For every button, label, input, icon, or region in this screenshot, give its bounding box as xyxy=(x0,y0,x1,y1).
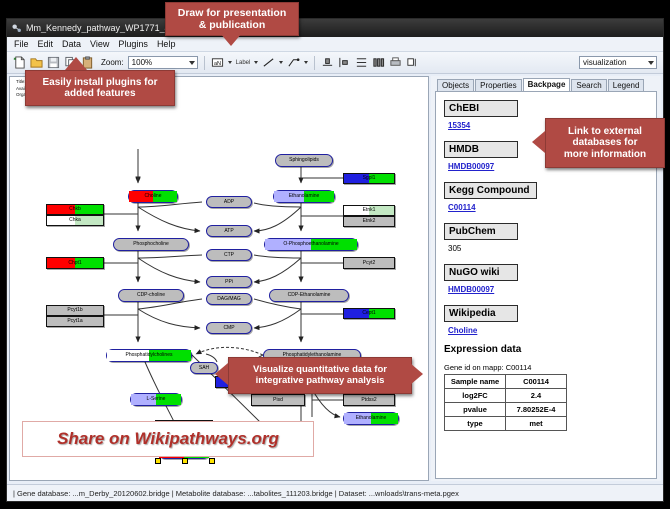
node-label: SAH xyxy=(199,366,209,371)
toolbar-separator xyxy=(314,56,315,70)
node-label: PPi xyxy=(225,280,233,285)
node-label: DAG/MAG xyxy=(217,297,241,302)
metabolite-node-sah[interactable]: SAH xyxy=(190,362,218,374)
visualization-value: visualization xyxy=(583,58,627,67)
node-label: Ethanolamine xyxy=(356,416,387,421)
new-file-icon[interactable] xyxy=(13,56,26,69)
callout-plugins-arrow xyxy=(65,57,87,70)
db-header-wikipedia: Wikipedia xyxy=(444,305,518,322)
interaction-icon[interactable] xyxy=(287,56,300,69)
gene-node-cept1[interactable]: Cept1 xyxy=(343,308,395,319)
node-label: Phosphatidylcholines xyxy=(126,353,173,358)
side-panel-tabs: Objects Properties Backpage Search Legen… xyxy=(431,76,661,91)
open-folder-icon[interactable] xyxy=(30,56,43,69)
zoom-label: Zoom: xyxy=(101,58,124,67)
gene-node-sgpl1[interactable]: Sgpl1 xyxy=(343,173,395,184)
menu-item-plugins[interactable]: Plugins xyxy=(118,39,148,49)
save-icon[interactable] xyxy=(47,56,60,69)
metabolite-node-adp[interactable]: ADP xyxy=(206,196,252,208)
db-header-chebi: ChEBI xyxy=(444,100,518,117)
callout-links: Link to external databases for more info… xyxy=(545,118,665,168)
node-label: Cept1 xyxy=(362,311,375,316)
callout-plugins-line1: Easily install plugins for xyxy=(42,77,157,89)
table-row: type met xyxy=(445,417,567,431)
callout-links-line3: more information xyxy=(564,149,646,161)
gene-id-line: Gene id on mapp: C00114 xyxy=(444,363,648,372)
node-label: CDP-Ethanolamine xyxy=(288,293,331,298)
expr-value: 2.4 xyxy=(506,389,567,403)
node-label: Pisd xyxy=(273,398,283,403)
table-row: Sample name C00114 xyxy=(445,375,567,389)
node-label: Etnk1 xyxy=(363,208,376,213)
share-banner: Share on Wikipathways.org xyxy=(22,421,314,457)
gene-node-etnk2[interactable]: Etnk2 xyxy=(343,216,395,227)
callout-draw: Draw for presentation & publication xyxy=(165,2,299,36)
align-icon[interactable] xyxy=(321,56,334,69)
statusbar-text: | Gene database: ...m_Derby_20120602.bri… xyxy=(13,489,459,498)
gene-node-pcyt2[interactable]: Pcyt2 xyxy=(343,257,395,269)
node-label: CDP-choline xyxy=(137,293,165,298)
stack-icon[interactable] xyxy=(355,56,368,69)
node-label: Ptdss2 xyxy=(361,398,376,403)
selection-handle[interactable] xyxy=(182,458,188,464)
gene-node-pcyt1b[interactable]: Pcyt1b xyxy=(46,305,104,316)
node-label: L-Serine xyxy=(147,397,166,402)
expression-table: Sample name C00114 log2FC 2.4 pvalue 7.8… xyxy=(444,374,567,431)
metabolite-node-atp[interactable]: ATP xyxy=(206,225,252,237)
callout-draw-line1: Draw for presentation xyxy=(178,7,287,19)
metabolite-node-cdp-choline[interactable]: CDP-choline xyxy=(118,289,184,302)
table-row: log2FC 2.4 xyxy=(445,389,567,403)
node-label: O-Phosphoethanolamine xyxy=(283,242,338,247)
node-label: ATP xyxy=(224,229,233,234)
db-link-wikipedia[interactable]: Choline xyxy=(448,326,648,335)
chevron-down-icon xyxy=(648,61,654,65)
metabolite-node-phosphocholine[interactable]: Phosphocholine xyxy=(113,238,189,251)
node-label: Phosphocholine xyxy=(133,242,169,247)
menu-item-view[interactable]: View xyxy=(90,39,109,49)
metabolite-node-dagmag[interactable]: DAG/MAG xyxy=(206,293,252,305)
expr-key: Sample name xyxy=(445,375,506,389)
statusbar: | Gene database: ...m_Derby_20120602.bri… xyxy=(7,484,663,501)
metabolite-node-phosphatidylcholines[interactable]: Phosphatidylcholines xyxy=(106,349,192,362)
gene-node-etnk1[interactable]: Etnk1 xyxy=(343,205,395,216)
window-titlebar: Mm_Kennedy_pathway_WP1771_45176.gpml xyxy=(7,19,663,37)
distribute-icon[interactable] xyxy=(338,56,351,69)
menu-item-help[interactable]: Help xyxy=(157,39,176,49)
expr-key: pvalue xyxy=(445,403,506,417)
toolbar-separator xyxy=(204,56,205,70)
pathvisio-icon xyxy=(11,23,22,34)
callout-visualize-arrow-right xyxy=(410,363,423,385)
tab-properties[interactable]: Properties xyxy=(475,79,521,91)
callout-visualize: Visualize quantitative data for integrat… xyxy=(228,357,412,394)
print-icon[interactable] xyxy=(389,56,402,69)
node-label: Pcyt2 xyxy=(363,261,376,266)
datanode-icon[interactable]: aN xyxy=(211,56,224,69)
selection-handle[interactable] xyxy=(155,458,161,464)
node-label: Sgpl1 xyxy=(363,176,376,181)
db-header-pubchem: PubChem xyxy=(444,223,518,240)
metabolite-node-o-phosphoethanolamine[interactable]: O-Phosphoethanolamine xyxy=(264,238,358,251)
screen-root: Mm_Kennedy_pathway_WP1771_45176.gpml Fil… xyxy=(0,0,670,509)
size-icon[interactable] xyxy=(372,56,385,69)
metabolite-node-ethanolamine-top[interactable]: Ethanolamine xyxy=(273,190,335,203)
node-label: Sphingolipids xyxy=(289,158,319,163)
node-label: Chkb xyxy=(69,207,81,212)
callout-visualize-arrow-left xyxy=(215,363,228,385)
node-label: Chka xyxy=(69,218,81,223)
expr-value: met xyxy=(506,417,567,431)
callout-visualize-line1: Visualize quantitative data for xyxy=(253,365,387,376)
line-icon[interactable] xyxy=(262,56,275,69)
expression-data-title: Expression data xyxy=(444,344,648,355)
gene-node-chka[interactable]: Chka xyxy=(46,215,104,226)
callout-plugins-line2: added features xyxy=(42,88,157,100)
menu-item-file[interactable]: File xyxy=(14,39,29,49)
callout-plugins: Easily install plugins for added feature… xyxy=(25,70,175,106)
node-label: ADP xyxy=(224,200,234,205)
chevron-down-icon[interactable] xyxy=(304,61,308,64)
node-label: Pcyt1a xyxy=(67,319,82,324)
metabolite-node-ethanolamine-right[interactable]: Ethanolamine xyxy=(343,412,399,425)
node-label: Chpt1 xyxy=(68,261,81,266)
gene-node-ptdss2[interactable]: Ptdss2 xyxy=(343,394,395,406)
db-link-kegg[interactable]: C00114 xyxy=(448,203,648,212)
table-row: pvalue 7.80252E-4 xyxy=(445,403,567,417)
label-button[interactable]: Label xyxy=(236,60,251,66)
metabolite-node-cdp-ethanolamine[interactable]: CDP-Ethanolamine xyxy=(269,289,349,302)
chevron-down-icon xyxy=(189,61,195,65)
menu-item-data[interactable]: Data xyxy=(62,39,81,49)
node-label: Etnk2 xyxy=(363,219,376,224)
metabolite-node-l-serine-left[interactable]: L-Serine xyxy=(130,393,182,406)
callout-links-arrow xyxy=(532,131,545,153)
menu-item-edit[interactable]: Edit xyxy=(38,39,54,49)
zoom-value: 100% xyxy=(132,58,152,67)
callout-draw-arrow xyxy=(220,33,242,46)
db-link-nugo[interactable]: HMDB00097 xyxy=(448,285,648,294)
node-label: CMP xyxy=(223,326,234,331)
tab-legend[interactable]: Legend xyxy=(608,79,645,91)
gene-node-pcyt1a[interactable]: Pcyt1a xyxy=(46,316,104,327)
metabolite-node-choline-top[interactable]: Choline xyxy=(128,190,178,203)
metabolite-node-ctp[interactable]: CTP xyxy=(206,249,252,261)
expr-key: type xyxy=(445,417,506,431)
node-label: Pcyt1b xyxy=(67,308,82,313)
db-header-kegg: Kegg Compound xyxy=(444,182,537,199)
callout-draw-line2: & publication xyxy=(178,19,287,31)
expr-key: log2FC xyxy=(445,389,506,403)
expr-value: C00114 xyxy=(506,375,567,389)
callout-links-line2: databases for xyxy=(564,137,646,149)
node-label: CTP xyxy=(224,253,234,258)
chevron-down-icon[interactable] xyxy=(254,61,258,64)
node-label: Ethanolamine xyxy=(289,194,320,199)
callout-visualize-line2: integrative pathway analysis xyxy=(253,376,387,387)
share-banner-text: Share on Wikipathways.org xyxy=(57,429,279,449)
metabolite-node-ppi[interactable]: PPi xyxy=(206,276,252,288)
db-value-pubchem: 305 xyxy=(448,244,648,253)
zoom-combo[interactable]: 100% xyxy=(128,56,198,69)
node-label: Choline xyxy=(145,194,162,199)
menubar: File Edit Data View Plugins Help xyxy=(7,37,663,52)
tab-search[interactable]: Search xyxy=(571,79,606,91)
metabolite-node-cmp[interactable]: CMP xyxy=(206,322,252,334)
gene-node-chpt1[interactable]: Chpt1 xyxy=(46,257,104,269)
gene-node-chkb[interactable]: Chkb xyxy=(46,204,104,215)
tab-objects[interactable]: Objects xyxy=(437,79,474,91)
order-icon[interactable] xyxy=(406,56,419,69)
visualization-combo[interactable]: visualization xyxy=(579,56,657,69)
expr-value: 7.80252E-4 xyxy=(506,403,567,417)
chevron-down-icon[interactable] xyxy=(279,61,283,64)
gene-node-pisd[interactable]: Pisd xyxy=(251,394,305,406)
svg-text:aN: aN xyxy=(214,61,221,67)
metabolite-node-sphingolipids[interactable]: Sphingolipids xyxy=(275,154,333,167)
selection-handle[interactable] xyxy=(209,458,215,464)
callout-links-line1: Link to external xyxy=(564,126,646,138)
db-header-hmdb: HMDB xyxy=(444,141,518,158)
chevron-down-icon[interactable] xyxy=(228,61,232,64)
db-header-nugo: NuGO wiki xyxy=(444,264,518,281)
tab-backpage[interactable]: Backpage xyxy=(523,78,571,91)
